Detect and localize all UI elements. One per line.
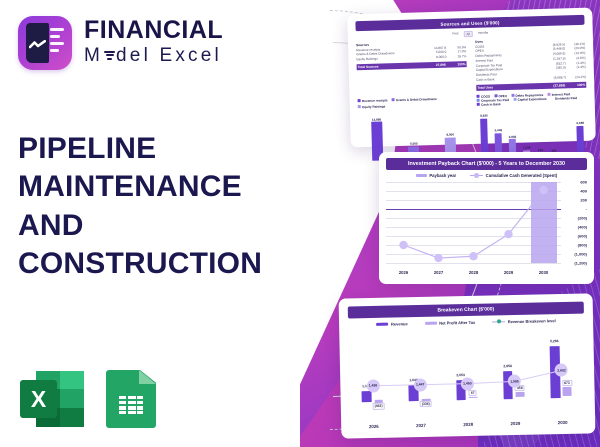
legend-label-revenue: Revenue [391, 321, 408, 326]
payback-title: Investment Payback Chart ($'000) - 5 Yea… [386, 158, 587, 170]
legend-label-breakeven-level: Revenue Breakeven level [508, 318, 556, 324]
card-sources-and-uses[interactable]: Sources and Uses ($'000) First All month… [347, 8, 596, 148]
uses-table: Uses COGS(8,926.5)(30.1%)OPEX(5,448.0)(2… [475, 36, 586, 90]
y-axis-tick: (800) [578, 243, 587, 248]
breakeven-x-axis: 20262027202820292030 [350, 420, 586, 430]
payback-plot-area: 600400200-(200)(400)(600)(800)(1,000)(1,… [386, 182, 587, 263]
legend-swatch [392, 98, 395, 101]
y-axis-tick: (600) [578, 234, 587, 239]
row-label: Equity Raisings [356, 56, 419, 63]
sources-total-row: Total Sources 27,898 100% [357, 61, 467, 70]
x-axis-tick: 2028 [456, 270, 491, 275]
bar-label: 8,926 [480, 114, 488, 118]
logo-zigzag-icon [29, 40, 46, 49]
bar-label: 5,000 [410, 142, 418, 146]
breakeven-level-line [348, 328, 586, 419]
uses-legend: COGSOPEXDebts RepaymentsInterest PaidCor… [476, 92, 586, 107]
payback-line-chart[interactable] [386, 182, 561, 263]
brand-line-1: FINANCIAL [84, 18, 223, 43]
x-axis-tick: 2028 [445, 421, 492, 427]
legend-swatch [477, 103, 480, 106]
legend-swatch [358, 99, 361, 102]
legend-swatch-revenue [376, 323, 388, 326]
row-value: (6,688.7) [539, 75, 566, 81]
logo-list-lines [50, 28, 64, 56]
legend-swatch [513, 98, 516, 101]
payback-x-axis: 20262027202820292030 [386, 270, 587, 275]
row-label: Cash in Bank [476, 76, 539, 83]
y-axis-tick: (200) [578, 216, 587, 221]
gridline [386, 263, 561, 264]
breakeven-title: Breakeven Chart ($'000) [348, 302, 584, 319]
y-axis-tick: 200 [580, 198, 587, 203]
document-chart-icon [18, 16, 72, 70]
card-investment-payback[interactable]: Investment Payback Chart ($'000) - 5 Yea… [379, 152, 594, 284]
legend-label-net-profit: Net Profit After Tax [439, 320, 475, 326]
uses-total-row: Total Uses (27,898) 100% [476, 82, 586, 91]
sheets-table-grid [117, 394, 145, 416]
legend-revenue: Revenue [376, 321, 407, 327]
legend-swatch-line-marker [470, 175, 483, 176]
uses-total-value: (27,898) [538, 83, 565, 88]
legend-label: Grants & Debts Drawdowns [396, 97, 437, 102]
legend-breakeven-level: Revenue Breakeven level [492, 318, 556, 324]
excel-icon-letter: X [20, 380, 57, 418]
legend-swatch-breakeven [492, 321, 505, 322]
payback-series-line [386, 182, 561, 263]
uses-bar-chart[interactable]: 8,9265,4483,9921,298633382-6,689 [477, 107, 588, 158]
poster-canvas: FINANCIAL M del Excel PIPELINE MAINTENAN… [0, 0, 600, 447]
legend-swatch-band [416, 174, 427, 177]
breakeven-legend: Revenue Net Profit After Tax Revenue Bre… [348, 318, 584, 328]
y-axis-tick: (400) [578, 225, 587, 230]
legend-cumulative-cash: Cumulative Cash Generated (Spent) [470, 173, 557, 178]
sources-legend: Revenue receiptsGrants & Debts Drawdowns… [358, 95, 468, 110]
legend-label: Capital Expenditure [517, 97, 546, 102]
card-breakeven[interactable]: Breakeven Chart ($'000) Revenue Net Prof… [339, 293, 596, 438]
bar-column[interactable]: 6,689 [576, 107, 585, 155]
legend-item: Cash in Bank [477, 102, 501, 107]
row-percent: (24.1%) [566, 75, 586, 80]
legend-swatch-net-profit [425, 322, 437, 325]
row-value: 8,000.0 [419, 55, 446, 61]
toggle-option-all[interactable]: All [463, 30, 473, 36]
legend-swatch [551, 97, 554, 100]
brand-logo: FINANCIAL M del Excel [18, 16, 223, 70]
y-axis-tick: 400 [580, 189, 587, 194]
bar[interactable] [577, 126, 585, 155]
payback-legend: Payback year Cumulative Cash Generated (… [386, 173, 587, 178]
bar-column[interactable]: 1,298 [522, 108, 531, 156]
page-title: PIPELINE MAINTENANCE AND CONSTRUCTION [18, 130, 300, 284]
legend-net-profit: Net Profit After Tax [425, 320, 476, 326]
bar-column[interactable]: 3,992 [508, 109, 517, 157]
y-axis-tick: - [586, 207, 587, 212]
brand-text: FINANCIAL M del Excel [84, 18, 223, 69]
uses-total-label: Total Uses [477, 84, 538, 90]
row-percent: 28.7% [446, 54, 466, 59]
x-axis-tick: 2027 [397, 422, 444, 428]
legend-item: Grants & Debts Drawdowns [392, 96, 437, 103]
bar-column[interactable]: - [563, 107, 571, 155]
x-axis-tick: 2027 [421, 270, 456, 275]
bar-label: 5,448 [495, 128, 503, 132]
legend-label-payback-year: Payback year [429, 173, 456, 178]
legend-item: Dividends Paid [551, 96, 578, 101]
legend-swatch [358, 105, 361, 108]
brand-line-2: M del Excel [84, 43, 223, 69]
bar-label: 8,000 [446, 133, 454, 137]
sources-total-value: 27,898 [419, 63, 446, 68]
x-axis-tick: 2029 [491, 270, 526, 275]
y-axis-tick: (1,200) [574, 261, 587, 266]
legend-item: Equity Raisings [358, 103, 386, 110]
brand-line-2-post: del Excel [116, 43, 222, 69]
bar-label: 14,898 [372, 117, 381, 121]
legend-payback-year: Payback year [416, 173, 456, 178]
file-format-icons: X [20, 368, 158, 430]
sources-uses-tables: Sources Revenue receipts14,897.850.3%Gra… [356, 36, 586, 94]
payback-y-axis: 600400200-(200)(400)(600)(800)(1,000)(1,… [561, 182, 587, 263]
legend-label: Dividends Paid [555, 96, 577, 101]
legend-label-cumulative-cash: Cumulative Cash Generated (Spent) [486, 173, 557, 178]
sources-table: Sources Revenue receipts14,897.850.3%Gra… [356, 40, 467, 94]
toggle-option-months[interactable]: months [476, 30, 490, 36]
toggle-option-first[interactable]: First [450, 31, 460, 37]
excel-icon: X [20, 368, 84, 430]
sources-total-label: Total Sources [358, 63, 419, 69]
bar-column[interactable]: 633 [536, 108, 544, 156]
brand-line-2-pre: M [84, 43, 103, 69]
legend-label: Equity Raisings [362, 104, 385, 109]
y-axis-tick: (1,000) [574, 252, 587, 257]
bar-label: 6,689 [576, 121, 584, 125]
x-axis-tick: 2030 [539, 420, 586, 426]
sources-total-pct: 100% [446, 62, 466, 67]
bar-label: 3,992 [509, 134, 517, 138]
x-axis-tick: 2026 [386, 270, 421, 275]
legend-label: Revenue receipts [362, 98, 388, 103]
bar-column[interactable]: 382 [549, 107, 557, 155]
x-axis-tick: 2026 [350, 423, 397, 429]
bar-column[interactable]: 5,448 [494, 109, 503, 157]
uses-total-pct: 100% [565, 83, 585, 88]
x-axis-tick: 2029 [492, 421, 539, 427]
x-axis-tick: 2030 [526, 270, 561, 275]
bar-column[interactable]: 8,926 [480, 109, 489, 157]
google-sheets-icon [106, 368, 158, 430]
gauge-o-icon [104, 50, 115, 61]
breakeven-bar-chart[interactable]: 1,149(462)1,648(336)2,053672,8584585,266… [348, 328, 586, 419]
left-content: FINANCIAL M del Excel PIPELINE MAINTENAN… [0, 0, 310, 447]
bar-label: 1,298 [523, 146, 531, 150]
legend-label: Cash in Bank [481, 102, 501, 107]
legend-item: Capital Expenditure [513, 97, 547, 102]
y-axis-tick: 600 [580, 180, 587, 185]
